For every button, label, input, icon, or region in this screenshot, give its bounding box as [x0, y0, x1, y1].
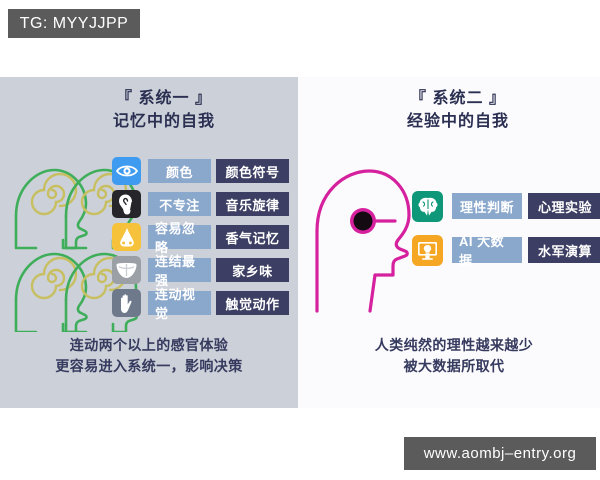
brain-icon	[412, 191, 443, 222]
right-head-group	[303, 159, 418, 329]
infographic-figure: 『 系统一 』 记忆中的自我	[0, 77, 600, 408]
tag-light[interactable]: 连动视觉	[148, 291, 211, 315]
tag-dark[interactable]: 音乐旋律	[216, 192, 289, 216]
panel-right-footer-line2: 被大数据所取代	[308, 356, 600, 378]
panel-right-heading-top: 『 系统二 』	[316, 89, 600, 109]
panel-left-heading: 『 系统一 』 记忆中的自我	[0, 89, 298, 133]
sense-row[interactable]: 连结最强 家乡味	[112, 256, 289, 284]
panel-right-footer: 人类纯然的理性越来越少 被大数据所取代	[298, 335, 600, 378]
panel-left-heading-top: 『 系统一 』	[30, 89, 298, 109]
tag-light[interactable]: AI 大数据	[452, 237, 522, 263]
panel-left-footer-line1: 连动两个以上的感官体验	[0, 335, 298, 357]
panel-left-footer: 连动两个以上的感官体验 更容易进入系统一，影响决策	[0, 335, 298, 378]
sense-row[interactable]: 容易忽略 香气记忆	[112, 223, 289, 251]
tongue-icon	[112, 256, 141, 284]
ear-icon	[112, 190, 141, 218]
telegram-watermark-badge: TG: MYYJJPP	[8, 9, 140, 38]
panel-right-footer-line1: 人类纯然的理性越来越少	[308, 335, 600, 357]
nose-icon	[112, 223, 141, 251]
tag-dark[interactable]: 家乡味	[216, 258, 289, 282]
panel-system-two: 『 系统二 』 经验中的自我	[298, 77, 600, 408]
rational-row[interactable]: AI 大数据 水军演算	[412, 234, 600, 266]
tag-dark[interactable]: 触觉动作	[216, 291, 289, 315]
panel-right-heading-sub: 经验中的自我	[316, 112, 600, 132]
panel-right-heading: 『 系统二 』 经验中的自我	[298, 89, 600, 133]
tag-dark[interactable]: 香气记忆	[216, 225, 289, 249]
tag-dark[interactable]: 颜色符号	[216, 159, 289, 183]
tag-light[interactable]: 理性判断	[452, 193, 522, 219]
tag-light[interactable]: 连结最强	[148, 258, 211, 282]
eye-icon	[112, 157, 141, 185]
tag-dark[interactable]: 水军演算	[528, 237, 600, 263]
monitor-lightbulb-icon	[412, 235, 443, 266]
sense-row[interactable]: 连动视觉 触觉动作	[112, 289, 289, 317]
tag-light[interactable]: 颜色	[148, 159, 211, 183]
rational-row[interactable]: 理性判断 心理实验	[412, 190, 600, 222]
left-sense-rows: 颜色 颜色符号 不专注 音乐旋律	[112, 157, 289, 322]
sense-row[interactable]: 不专注 音乐旋律	[112, 190, 289, 218]
right-rational-rows: 理性判断 心理实验 AI 大数据 水军演算	[412, 190, 600, 278]
panel-left-footer-line2: 更容易进入系统一，影响决策	[0, 356, 298, 378]
panel-system-one: 『 系统一 』 记忆中的自我	[0, 77, 298, 408]
sense-row[interactable]: 颜色 颜色符号	[112, 157, 289, 185]
tag-light[interactable]: 不专注	[148, 192, 211, 216]
tag-dark[interactable]: 心理实验	[528, 193, 600, 219]
hand-icon	[112, 289, 141, 317]
panel-left-heading-sub: 记忆中的自我	[30, 112, 298, 132]
tag-light[interactable]: 容易忽略	[148, 225, 211, 249]
head-with-eye-dot	[303, 159, 418, 329]
url-watermark-badge: www.aombj–entry.org	[404, 437, 596, 470]
